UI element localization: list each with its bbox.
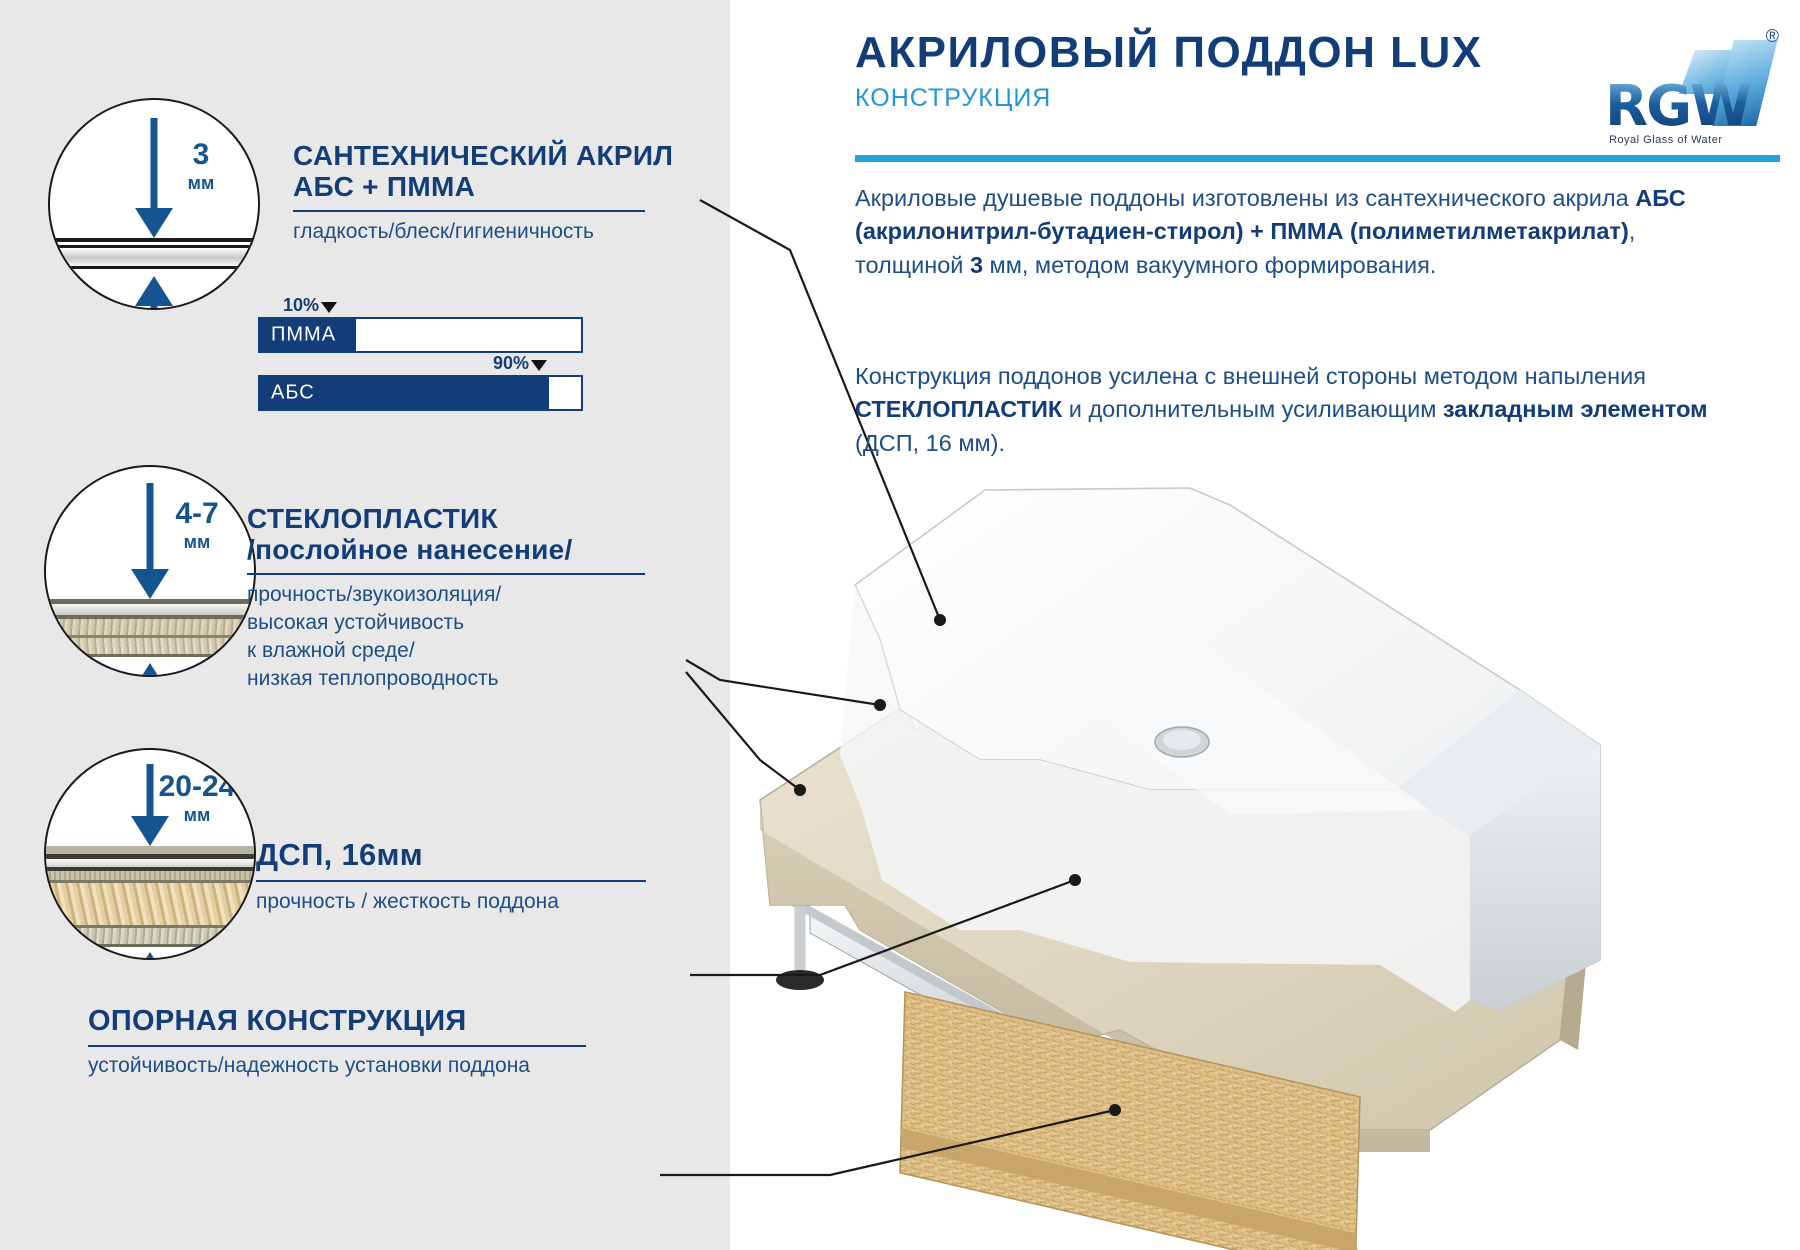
logo-wordmark: RGW [1605, 74, 1750, 139]
layer-acryl [48, 248, 260, 266]
bar-pmma: ПММА [258, 317, 583, 353]
arrow-up-icon [135, 276, 173, 306]
callout-acryl-divider [293, 210, 645, 212]
layer-line-bottom [48, 266, 260, 269]
description-paragraph-2: Конструкция поддонов усилена с внешней с… [855, 360, 1735, 460]
layer-line-5 [44, 944, 256, 947]
bar-pmma-label: ПММА [271, 324, 336, 347]
layer-line-top [48, 238, 260, 242]
callout-chipboard-divider [256, 880, 646, 882]
support-structure-title: ОПОРНАЯ КОНСТРУКЦИЯ [88, 1005, 467, 1038]
support-structure-description: устойчивость/надежность установки поддон… [88, 1054, 530, 1078]
layer-fiberglass-1 [44, 619, 256, 635]
callout-chipboard-title: ДСП, 16мм [256, 838, 676, 873]
callout-chipboard-circle: 20-24 мм [44, 748, 256, 960]
callout-acryl-title: САНТЕХНИЧЕСКИЙ АКРИЛ АБС + ПММА [293, 140, 713, 203]
support-structure-divider [88, 1045, 586, 1047]
logo-tagline: Royal Glass of Water [1609, 134, 1723, 146]
callout-fiberglass-dimension: 4-7 мм [154, 499, 240, 551]
pmma-percent-label: 10% [283, 295, 337, 316]
callout-acryl-circle: 3 мм [48, 98, 260, 310]
layer-grey-bottom [44, 928, 256, 944]
callout-acryl-description: гладкость/блеск/гигиеничность [293, 218, 713, 246]
callout-fiberglass-circle: 4-7 мм [44, 465, 256, 677]
arrow-up-icon [131, 663, 169, 677]
header-title-block: АКРИЛОВЫЙ ПОДДОН LUX КОНСТРУКЦИЯ [855, 30, 1483, 113]
callout-chipboard-description: прочность / жесткость поддона [256, 888, 676, 916]
arrow-down-stem [147, 483, 154, 575]
arrow-down-icon [135, 208, 173, 238]
layer-acryl-thin [44, 604, 256, 615]
marker-triangle-icon [321, 302, 337, 313]
bar-abs-label: АБС [271, 382, 315, 405]
page-subtitle: КОНСТРУКЦИЯ [855, 84, 1483, 113]
layer-acryl-thin [44, 859, 256, 867]
description-paragraph-1: Акриловые душевые поддоны изготовлены из… [855, 182, 1735, 282]
callout-fiberglass-description: прочность/звукоизоляция/ высокая устойчи… [247, 581, 667, 693]
arrow-down-stem [151, 118, 158, 214]
rgw-logo: ® RGW Royal Glass of Water [1605, 22, 1785, 142]
arrow-up-stem [151, 304, 158, 310]
header-divider [855, 155, 1780, 162]
callout-chipboard-dimension: 20-24 мм [142, 772, 252, 824]
callout-fiberglass-title: СТЕКЛОПЛАСТИК /послойное нанесение/ [247, 503, 707, 566]
arrow-down-icon [131, 569, 169, 599]
layer-fiberglass-2 [44, 638, 256, 654]
marker-triangle-icon-2 [531, 360, 547, 371]
callout-acryl-dimension: 3 мм [162, 140, 240, 192]
callout-fiberglass: 4-7 мм СТЕКЛОПЛАСТИК /послойное нанесени… [44, 465, 704, 705]
layer-line-4 [44, 654, 256, 657]
arrow-up-icon [131, 952, 169, 960]
layer-grey-top [44, 846, 256, 854]
abs-percent-label: 90% [493, 353, 547, 374]
callout-acryl: 3 мм САНТЕХНИЧЕСКИЙ АКРИЛ АБС + ПММА гла… [48, 98, 708, 313]
bar-abs: АБС [258, 375, 583, 411]
layer-chipboard [44, 883, 256, 925]
layer-fiberglass [44, 871, 256, 880]
callout-fiberglass-divider [247, 573, 645, 575]
registered-trademark-icon: ® [1766, 26, 1779, 47]
callout-chipboard: 20-24 мм ДСП, 16мм прочность / жесткость… [44, 748, 704, 963]
page-title: АКРИЛОВЫЙ ПОДДОН LUX [855, 30, 1483, 76]
